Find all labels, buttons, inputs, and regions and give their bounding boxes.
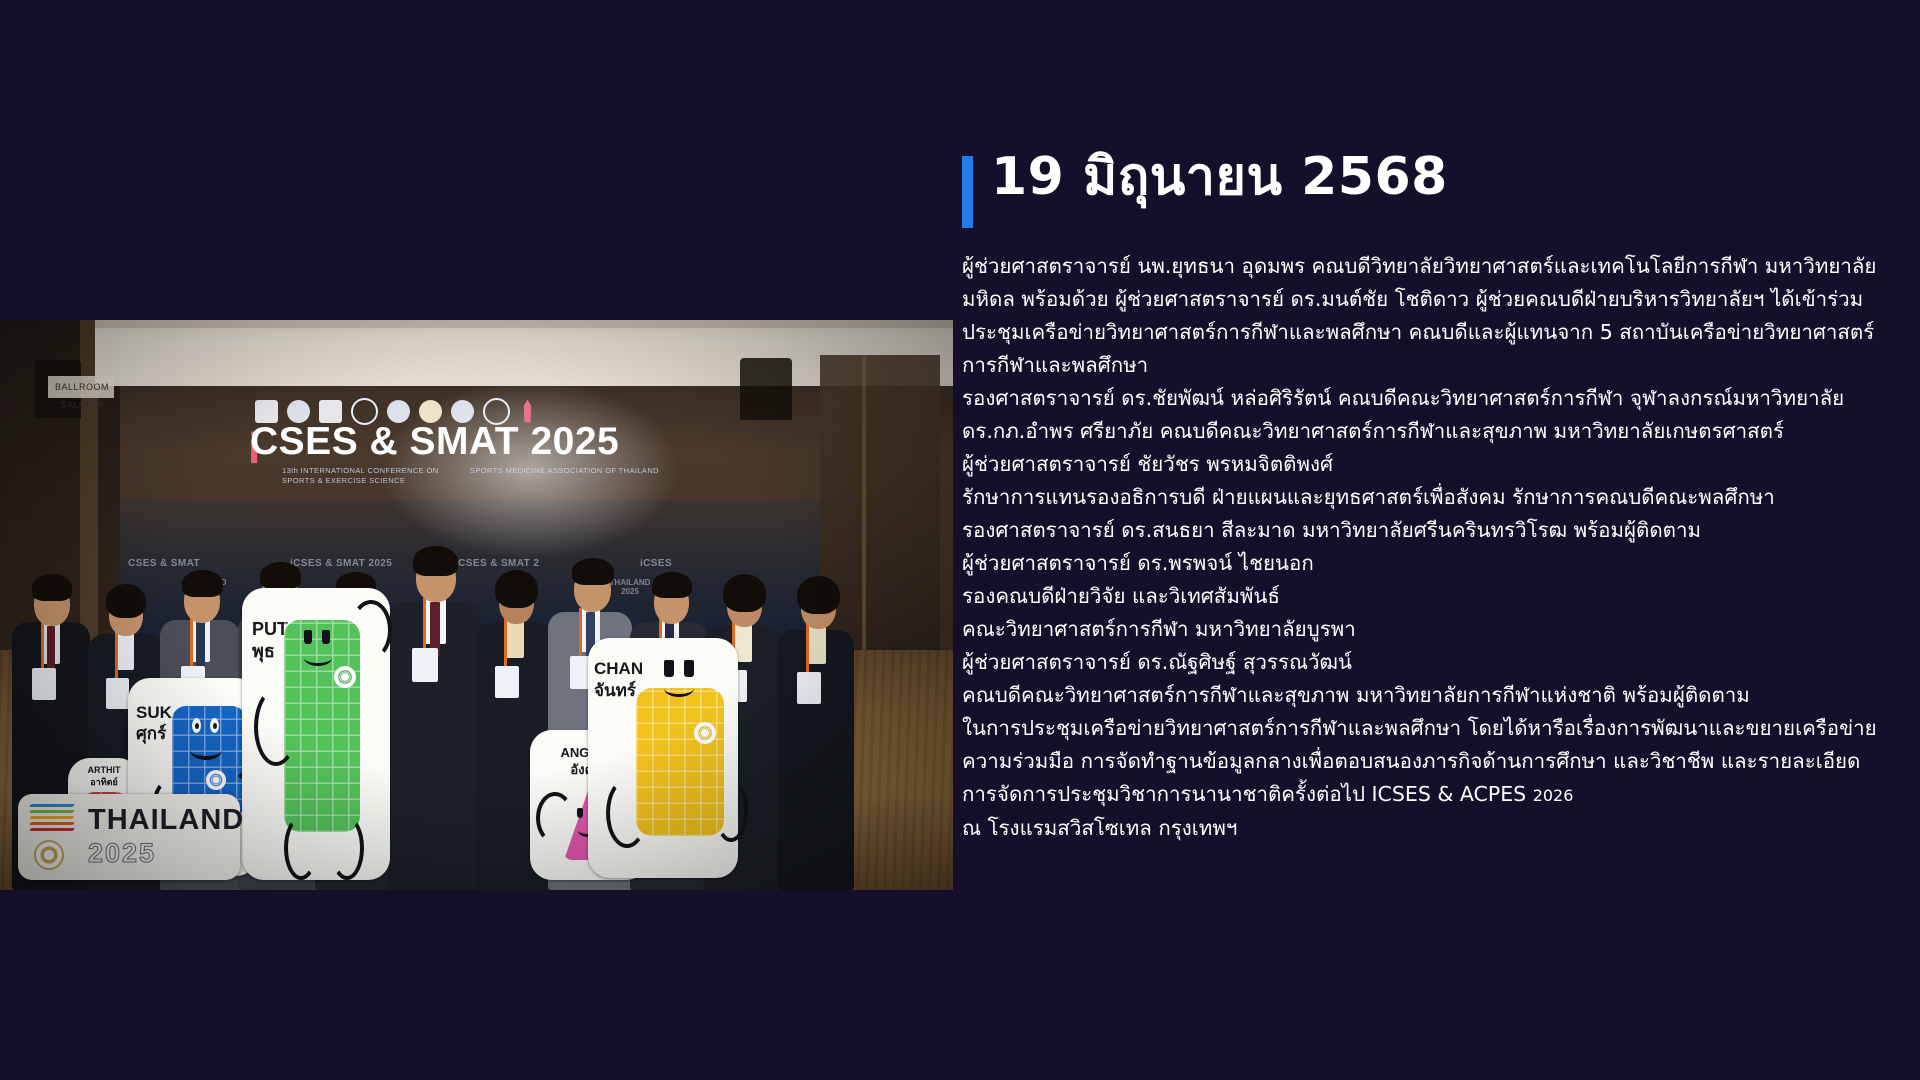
paragraph: รองศาสตราจารย์ ดร.สนธยา สีละมาด มหาวิทยา… bbox=[962, 514, 1892, 547]
closing-text: ในการประชุมเครือข่ายวิทยาศาสตร์การกีฬาแล… bbox=[962, 716, 1877, 806]
paragraph: ผู้ช่วยศาสตราจารย์ ดร.ณัฐศิษฐ์ สุวรรณวัฒ… bbox=[962, 646, 1892, 679]
article-content: 19 มิถุนายน 2568 ผู้ช่วยศาสตราจารย์ นพ.ย… bbox=[962, 150, 1892, 845]
venue-line: ณ โรงแรมสวิสโซเทล กรุงเทพฯ bbox=[962, 812, 1892, 845]
paragraph: รองคณบดีฝ่ายวิจัย และวิเทศสัมพันธ์ bbox=[962, 580, 1892, 613]
photo-vignette bbox=[0, 320, 953, 890]
event-photo: BALLROOM SALON-A i CSES & SMAT 2025 13th… bbox=[0, 320, 953, 890]
article-body: ผู้ช่วยศาสตราจารย์ นพ.ยุทธนา อุดมพร คณบด… bbox=[962, 250, 1892, 845]
paragraph: รักษาการแทนรองอธิการบดี ฝ่ายแผนและยุทธศา… bbox=[962, 481, 1892, 514]
paragraph: ผู้ช่วยศาสตราจารย์ นพ.ยุทธนา อุดมพร คณบด… bbox=[962, 250, 1892, 382]
page-title: 19 มิถุนายน 2568 bbox=[991, 150, 1448, 205]
paragraph: ผู้ช่วยศาสตราจารย์ ชัยวัชร พรหมจิตติพงศ์ bbox=[962, 448, 1892, 481]
paragraph: คณบดีคณะวิทยาศาสตร์การกีฬาและสุขภาพ มหาว… bbox=[962, 679, 1892, 712]
closing-year: 2026 bbox=[1533, 786, 1574, 805]
paragraph: รองศาสตราจารย์ ดร.ชัยพัฒน์ หล่อศิริรัตน์… bbox=[962, 382, 1892, 415]
closing-paragraph: ในการประชุมเครือข่ายวิทยาศาสตร์การกีฬาแล… bbox=[962, 712, 1892, 812]
paragraph: คณะวิทยาศาสตร์การกีฬา มหาวิทยาลัยบูรพา bbox=[962, 613, 1892, 646]
title-row: 19 มิถุนายน 2568 bbox=[962, 150, 1892, 228]
paragraph: ผู้ช่วยศาสตราจารย์ ดร.พรพจน์ ไชยนอก bbox=[962, 547, 1892, 580]
paragraph: ดร.กภ.อำพร ศรียาภัย คณบดีคณะวิทยาศาสตร์ก… bbox=[962, 415, 1892, 448]
title-accent-bar bbox=[962, 156, 973, 228]
